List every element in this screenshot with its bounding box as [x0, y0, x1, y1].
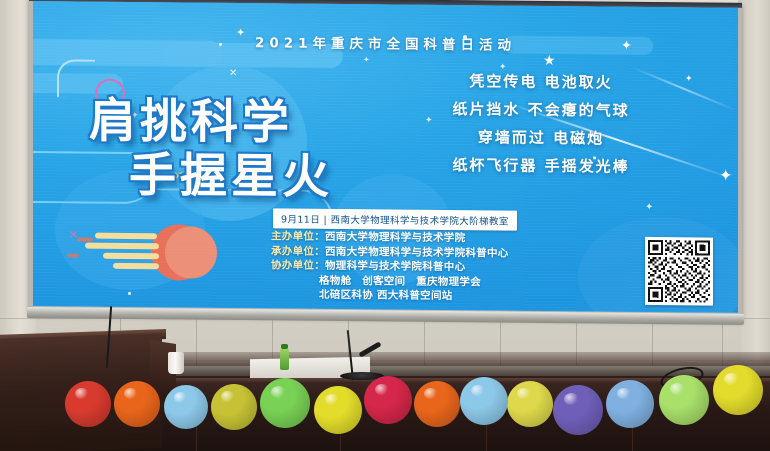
qr-code[interactable] [645, 237, 713, 306]
organizer-label: 协办单位： [271, 259, 325, 272]
paper-cup [168, 352, 184, 374]
photo-scene: ✦ ✦ ✦ ✦ ★ ✦ ✦ ✦ ✦ ✦ ✦ ✕ ✕ ✕ [0, 0, 770, 451]
balloon-highlight [75, 388, 89, 399]
balloon-highlight [325, 394, 339, 406]
projection-screen: ✦ ✦ ✦ ✦ ★ ✦ ✦ ✦ ✦ ✦ ✦ ✕ ✕ ✕ [33, 1, 738, 313]
organizer-line: 北碚区科协 西大科普空间站 [271, 287, 509, 304]
green-bottle [280, 348, 289, 370]
balloon-highlight [221, 391, 235, 402]
balloon-highlight [724, 373, 739, 385]
organizer-value: 格物舱 创客空间 重庆物理学会 [319, 274, 481, 288]
balloon-highlight [375, 384, 389, 396]
organizer-value: 西南大学物理科学与技术学院科普中心 [325, 245, 509, 259]
balloon-highlight [174, 392, 187, 403]
balloon-highlight [271, 386, 286, 398]
activity-item: 穿墙而过 电磁炮 [386, 122, 696, 153]
balloon [260, 378, 310, 428]
organizer-label: 主办单位： [271, 230, 325, 243]
bottle-cap [281, 344, 288, 349]
balloon [211, 384, 257, 430]
balloon [364, 376, 412, 424]
organizer-value: 物理科学与技术学院科普中心 [325, 260, 465, 273]
activity-item: 纸片挡水 不会瘪的气球 [386, 94, 696, 125]
balloon-highlight [124, 388, 138, 399]
qr-code-icon [648, 240, 710, 303]
balloon [65, 381, 111, 427]
organizer-line: 主办单位：西南大学物理科学与技术学院 [271, 229, 509, 246]
balloon [114, 381, 160, 427]
poster-organizer-block: 主办单位：西南大学物理科学与技术学院 承办单位：西南大学物理科学与技术学院科普中… [271, 229, 509, 304]
balloon-highlight [670, 383, 685, 395]
organizer-line: 协办单位：物理科学与技术学院科普中心 [271, 258, 509, 275]
balloon-highlight [471, 385, 485, 397]
organizer-value: 西南大学物理科学与技术学院 [325, 231, 465, 244]
poster-activity-list: 凭空传电 电池取火 纸片挡水 不会瘪的气球 穿墙而过 电磁炮 纸杯飞行器 手摇发… [386, 66, 696, 181]
activity-item: 纸杯飞行器 手摇发光棒 [386, 150, 696, 181]
balloon-highlight [617, 388, 631, 400]
projection-screen-frame: ✦ ✦ ✦ ✦ ★ ✦ ✦ ✦ ✦ ✦ ✦ ✕ ✕ ✕ [29, 0, 742, 321]
organizer-value: 北碚区科协 西大科普空间站 [319, 289, 453, 302]
balloon [713, 365, 763, 415]
balloon-highlight [424, 388, 438, 399]
balloon [507, 381, 553, 427]
activity-item: 凭空传电 电池取火 [386, 66, 696, 97]
balloon [164, 385, 208, 429]
poster-date-venue-badge: 9月11日 | 西南大学物理科学与技术学院大阶梯教室 [273, 208, 517, 230]
poster-title-line-2: 手握星火 [129, 136, 333, 207]
balloon [460, 377, 508, 425]
balloon [553, 385, 603, 435]
event-poster: ✦ ✦ ✦ ✦ ★ ✦ ✦ ✦ ✦ ✦ ✦ ✕ ✕ ✕ [33, 1, 738, 313]
balloon [606, 380, 654, 428]
organizer-label: 承办单位： [271, 245, 325, 258]
balloon-highlight [564, 393, 579, 405]
balloon-highlight [517, 388, 531, 399]
balloon [414, 381, 460, 427]
balloon [314, 386, 362, 434]
balloon [659, 375, 709, 425]
